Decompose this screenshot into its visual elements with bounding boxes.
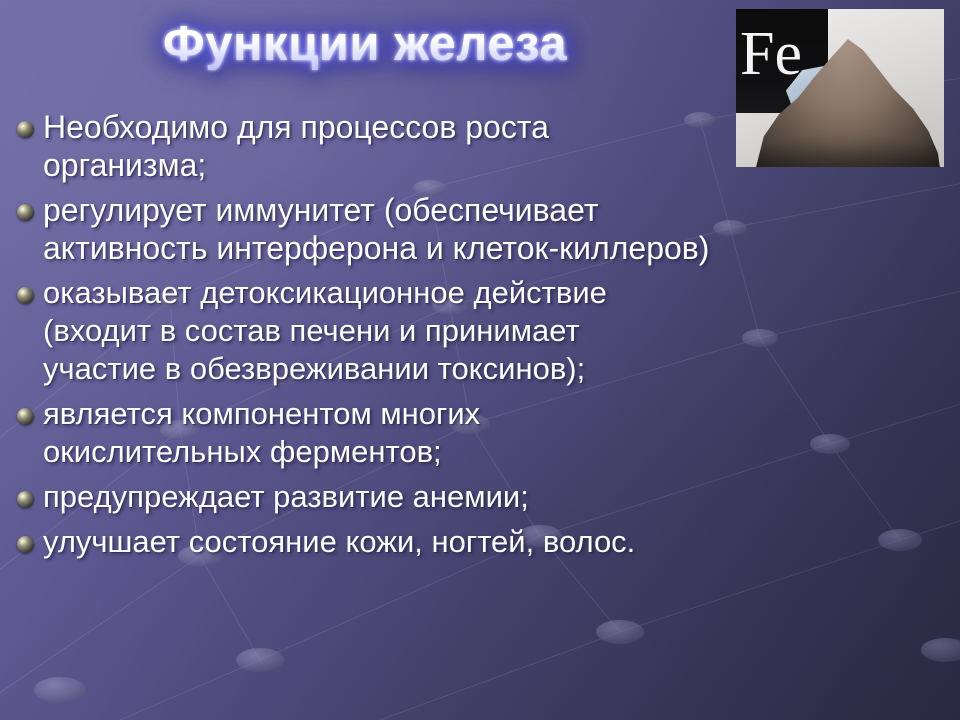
sphere-bullet-icon [17,408,34,425]
title-block: Функции железа [0,16,730,72]
list-item-text: оказывает детоксикационное действие (вхо… [43,274,607,388]
sphere-bullet-icon [17,287,34,304]
sphere-bullet-icon [17,204,34,221]
sphere-bullet-icon [17,491,34,508]
bullet-list: Необходимо для процессов роста организма… [17,108,952,568]
list-item-text: регулирует иммунитет (обеспечивает актив… [43,191,709,267]
list-item: оказывает детоксикационное действие (вхо… [17,274,952,388]
list-item: предупреждает развитие анемии; [17,478,952,516]
list-item: регулирует иммунитет (обеспечивает актив… [17,191,952,267]
presentation-slide: Функции железа Fe Необходимо для процесс… [0,0,960,720]
sphere-bullet-icon [17,536,34,553]
list-item: Необходимо для процессов роста организма… [17,108,952,184]
sphere-bullet-icon [17,121,34,138]
list-item-text: улучшает состояние кожи, ногтей, волос. [43,523,635,561]
list-item: улучшает состояние кожи, ногтей, волос. [17,523,952,561]
fe-symbol-label: Fe [740,23,802,85]
list-item: является компонентом многих окислительны… [17,395,952,471]
page-title: Функции железа [163,16,567,72]
list-item-text: является компонентом многих окислительны… [43,395,480,471]
list-item-text: предупреждает развитие анемии; [43,478,529,516]
list-item-text: Необходимо для процессов роста организма… [43,108,549,184]
